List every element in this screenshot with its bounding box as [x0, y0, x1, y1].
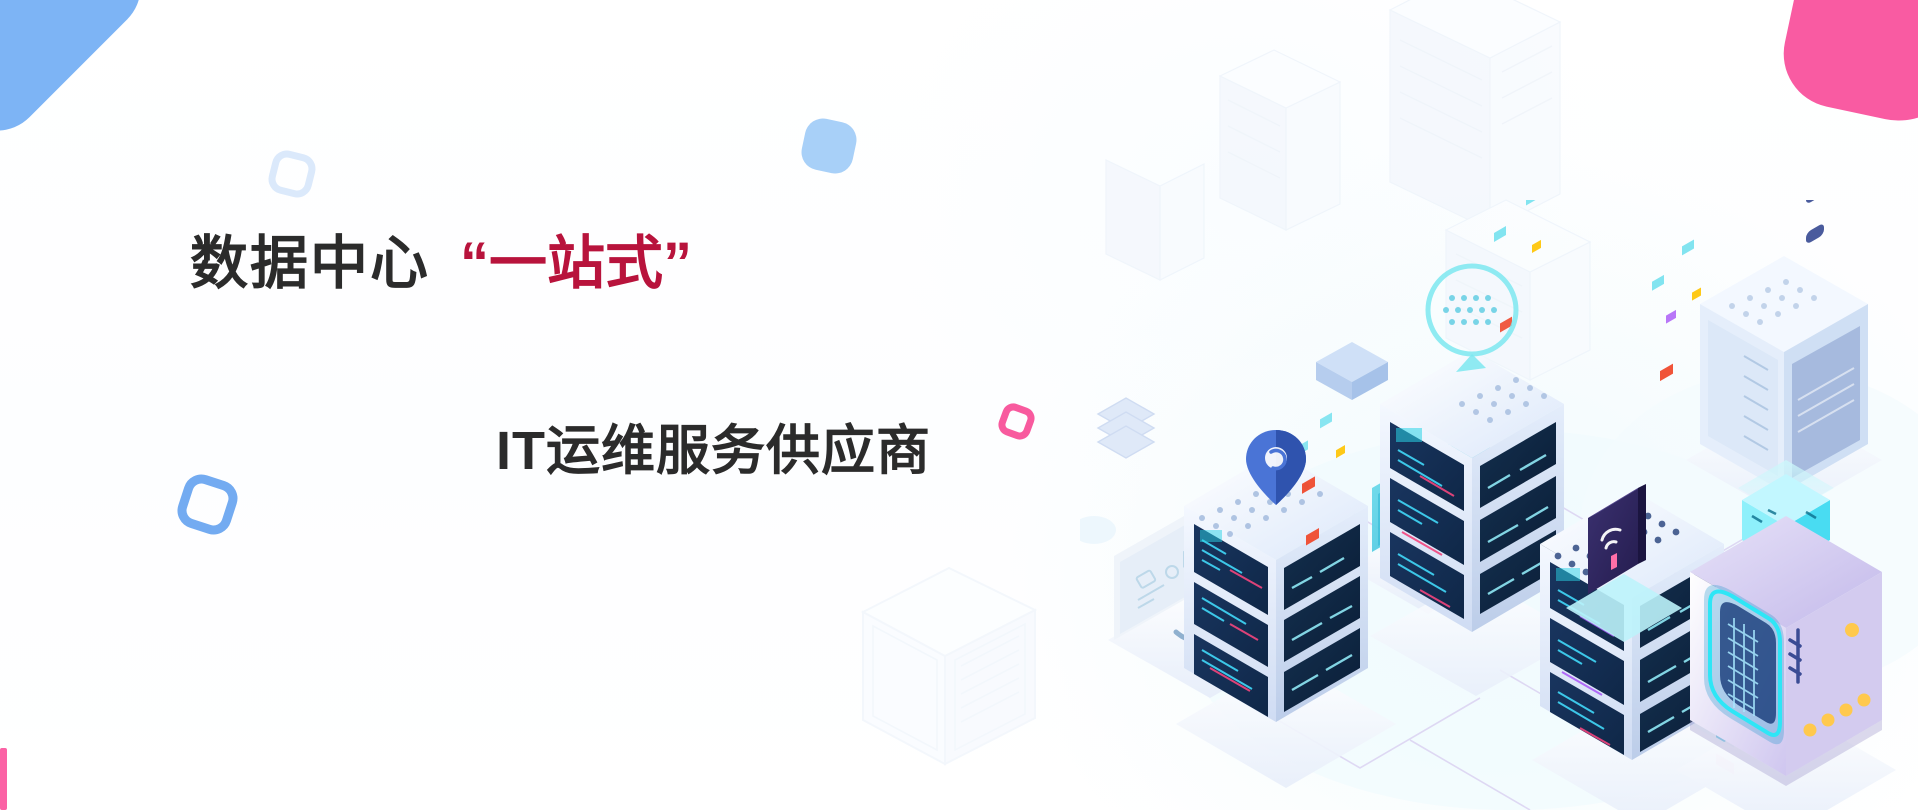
- hero-banner: 数据中心“一站式” IT运维服务供应商: [0, 0, 1918, 810]
- corner-shape-pink: [1774, 0, 1918, 133]
- edge-accent-bar-pink: [0, 748, 7, 810]
- data-center-illustration: [1080, 200, 1918, 810]
- stacked-disks: [1098, 398, 1154, 458]
- headline-line-1: 数据中心“一站式”: [190, 232, 1010, 296]
- headline-line-2: IT运维服务供应商: [496, 406, 1010, 485]
- accent-blob-blue: [798, 115, 860, 177]
- cloud-node: [1428, 266, 1516, 372]
- corner-shape-blue: [0, 0, 160, 150]
- hero-copy: 数据中心“一站式” IT运维服务供应商: [190, 232, 1010, 485]
- headline-highlight: “一站式”: [460, 231, 692, 296]
- cloud-node-small: [1080, 516, 1116, 544]
- accent-ring-blue-small: [265, 147, 318, 200]
- headline-prefix: 数据中心: [190, 231, 430, 296]
- cube-node: [1316, 342, 1388, 400]
- ghost-server-cabinet: [845, 552, 1075, 792]
